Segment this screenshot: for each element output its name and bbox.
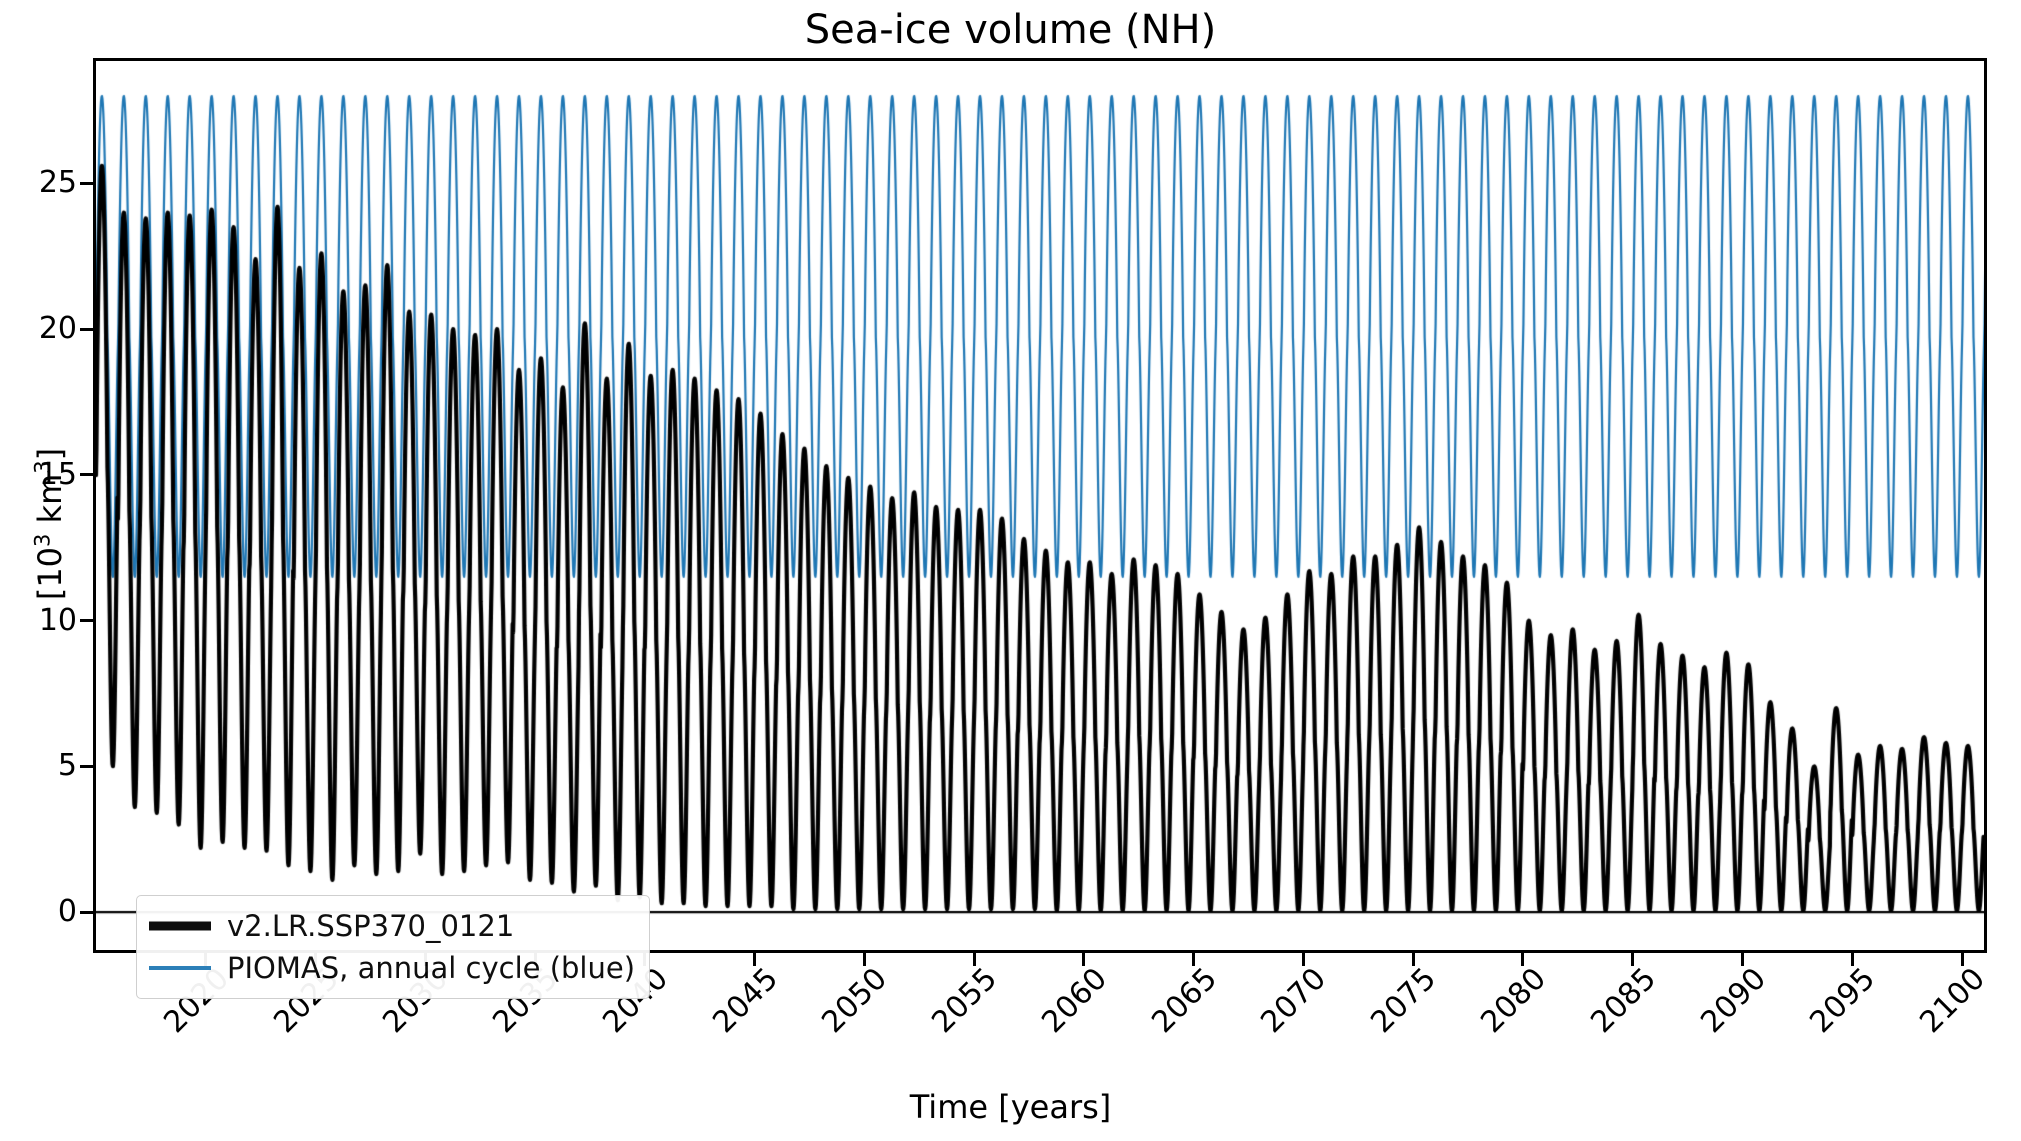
x-axis-tick-label: 2050 (805, 962, 894, 1051)
plot-area (93, 58, 1987, 953)
y-axis-label-unit: km (31, 474, 69, 534)
legend[interactable]: v2.LR.SSP370_0121 PIOMAS, annual cycle (… (136, 895, 650, 999)
y-axis-tick-label: 0 (7, 897, 77, 927)
black-line-swatch-icon (149, 916, 211, 936)
x-axis-tick-label: 2090 (1683, 962, 1772, 1051)
x-axis-tick-label: 2085 (1574, 962, 1663, 1051)
x-axis-tick-mark (1082, 953, 1085, 966)
x-axis-tick-mark (1631, 953, 1634, 966)
x-axis-tick-mark (1521, 953, 1524, 966)
x-axis-tick-label: 2075 (1354, 962, 1443, 1051)
legend-item[interactable]: v2.LR.SSP370_0121 (149, 905, 635, 947)
blue-line-swatch-icon (149, 958, 211, 978)
x-axis-tick-mark (973, 953, 976, 966)
x-axis-tick-label: 2080 (1464, 962, 1553, 1051)
legend-item-label: PIOMAS, annual cycle (blue) (227, 952, 635, 984)
x-axis-tick-label: 2045 (696, 962, 785, 1051)
figure-canvas: Sea-ice volume (NH) 0510152025 202020252… (0, 0, 2021, 1141)
y-axis-label: [103 km3] (31, 314, 69, 734)
x-axis-tick-label: 2100 (1903, 962, 1992, 1051)
y-axis-label-text: [10 (31, 547, 69, 600)
x-axis-tick-mark (753, 953, 756, 966)
page-title: Sea-ice volume (NH) (0, 6, 2021, 54)
y-axis-label-bracket: ] (31, 448, 69, 460)
x-axis-tick-label: 2060 (1025, 962, 1114, 1051)
y-axis-label-unit-exponent: 3 (30, 460, 54, 473)
x-axis-tick-mark (863, 953, 866, 966)
x-axis-tick-mark (1851, 953, 1854, 966)
y-axis-label-exponent: 3 (30, 534, 54, 547)
x-axis-tick-mark (1961, 953, 1964, 966)
x-axis-label: Time [years] (0, 1087, 2021, 1127)
legend-item[interactable]: PIOMAS, annual cycle (blue) (149, 947, 635, 989)
y-axis-tick-label: 25 (7, 168, 77, 198)
series-plot-canvas (96, 61, 1984, 950)
y-axis-tick-mark (80, 473, 93, 476)
x-axis-tick-mark (1741, 953, 1744, 966)
y-axis-tick-mark (80, 911, 93, 914)
x-axis-tick-mark (1192, 953, 1195, 966)
x-axis-tick-label: 2065 (1135, 962, 1224, 1051)
y-axis-tick-label: 5 (7, 751, 77, 781)
x-axis-tick-label: 2095 (1793, 962, 1882, 1051)
x-axis-tick-mark (1412, 953, 1415, 966)
y-axis-tick-mark (80, 619, 93, 622)
y-axis-tick-mark (80, 765, 93, 768)
y-axis-tick-mark (80, 328, 93, 331)
legend-item-label: v2.LR.SSP370_0121 (227, 910, 514, 942)
x-axis-tick-mark (1302, 953, 1305, 966)
y-axis-tick-mark (80, 182, 93, 185)
x-axis-tick-label: 2055 (915, 962, 1004, 1051)
x-axis-tick-label: 2070 (1244, 962, 1333, 1051)
